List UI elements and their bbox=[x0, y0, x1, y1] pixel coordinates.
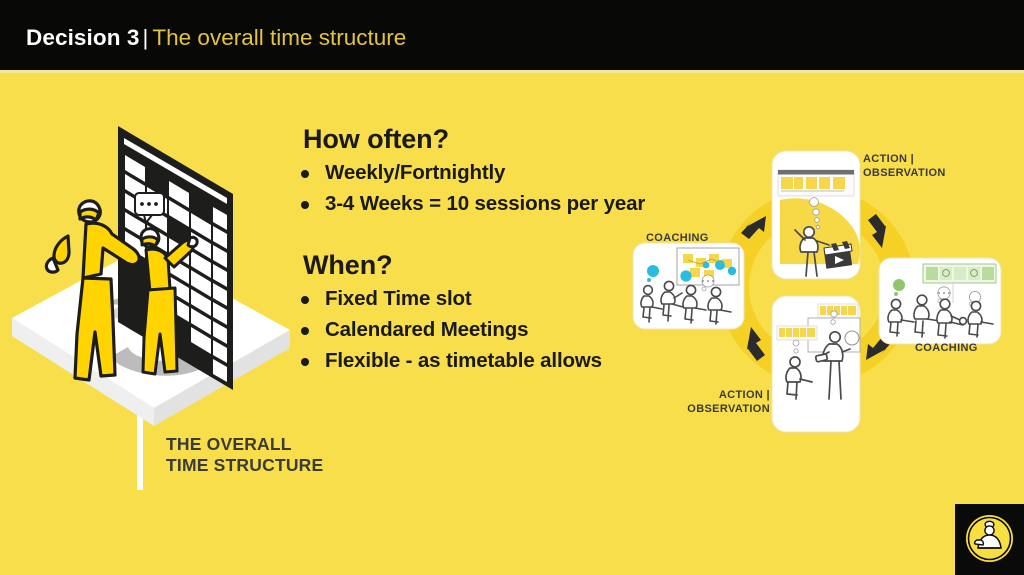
caption-line-2: TIME STRUCTURE bbox=[166, 455, 323, 476]
slide-header-bar: Decision 3|The overall time structure bbox=[0, 0, 1024, 70]
illustration-caption: THE OVERALL TIME STRUCTURE bbox=[166, 434, 323, 477]
cycle-label-action-observation-bottom: ACTION | OBSERVATION bbox=[658, 389, 770, 417]
cycle-card-right bbox=[879, 258, 1001, 344]
page-title: Decision 3|The overall time structure bbox=[26, 27, 406, 50]
title-decision-label: Decision 3 bbox=[26, 25, 140, 50]
slide-canvas: Decision 3|The overall time structure bbox=[0, 0, 1024, 575]
header-divider-rule bbox=[0, 70, 1024, 73]
brand-logo-icon bbox=[966, 515, 1013, 562]
cycle-card-top bbox=[772, 151, 860, 279]
caption-line-1: THE OVERALL bbox=[166, 434, 323, 455]
title-subtitle: The overall time structure bbox=[152, 25, 406, 50]
cycle-card-left bbox=[633, 243, 744, 329]
calendar-illustration bbox=[8, 108, 298, 438]
cycle-label-coaching-right: COACHING bbox=[915, 342, 978, 356]
cycle-card-bottom bbox=[772, 296, 860, 432]
cycle-label-action-observation-top: ACTION | OBSERVATION bbox=[863, 153, 946, 181]
software-ribbon-mock bbox=[778, 170, 854, 196]
brand-logo bbox=[955, 504, 1024, 575]
calendar-illustration-svg bbox=[8, 108, 298, 438]
software-ribbon-mock-upper bbox=[818, 304, 858, 318]
cycle-label-coaching-left: COACHING bbox=[646, 232, 709, 246]
title-separator: | bbox=[143, 25, 149, 50]
green-toolbar-mock bbox=[923, 264, 996, 283]
software-ribbon-mock-lower bbox=[777, 326, 817, 340]
